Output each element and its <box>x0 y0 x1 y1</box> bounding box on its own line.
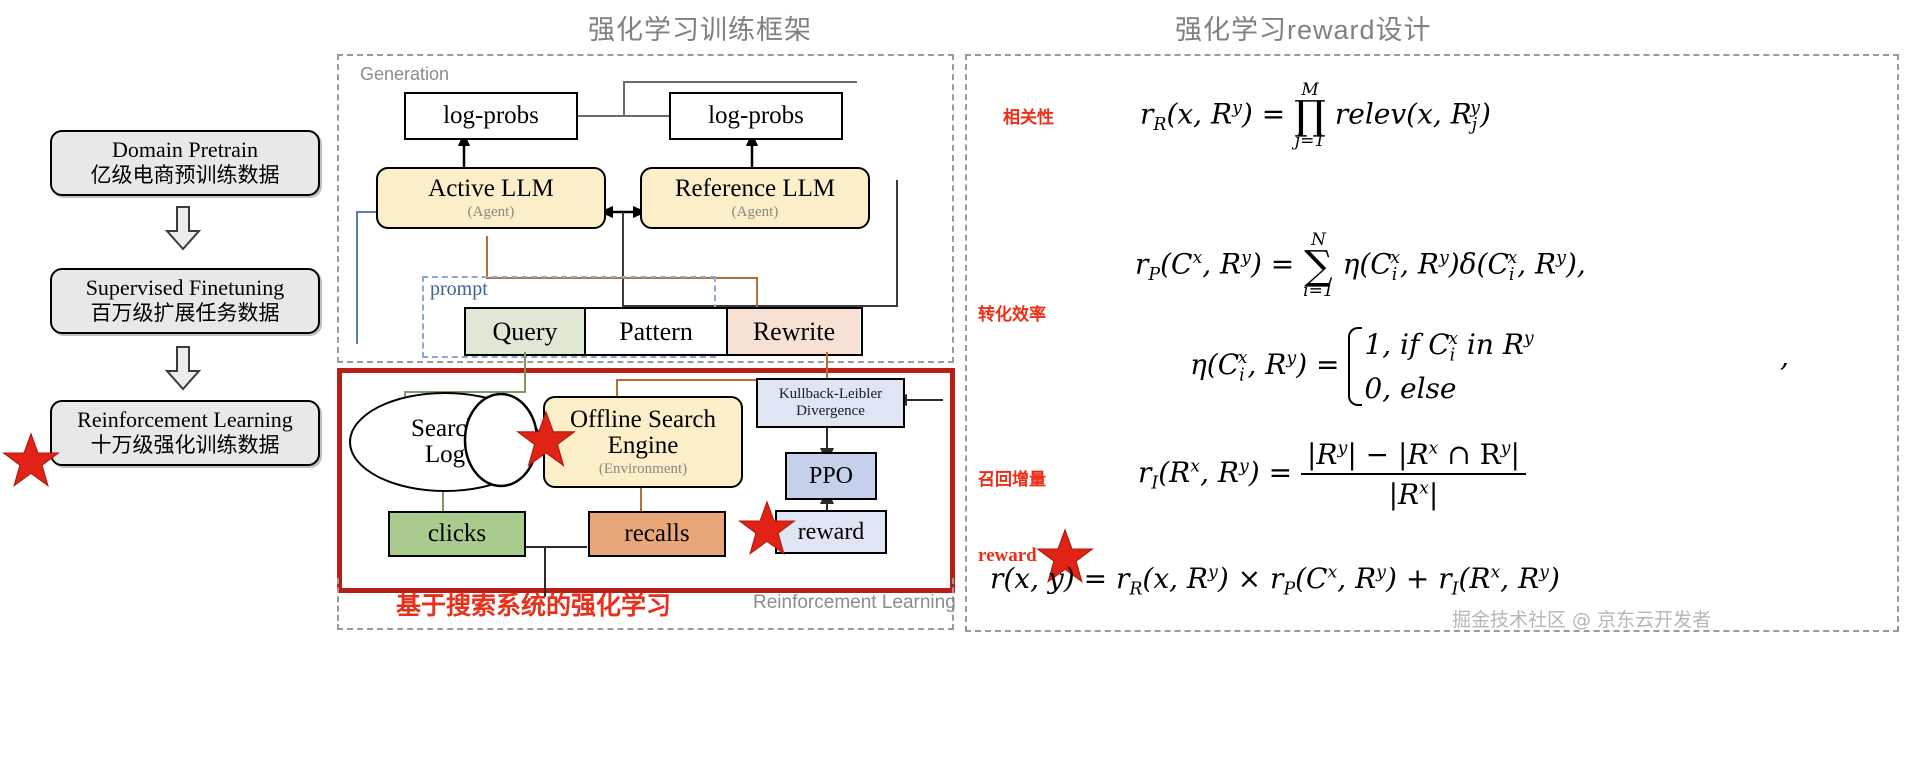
pipeline-step-domain-pretrain[interactable]: Domain Pretrain 亿级电商预训练数据 <box>50 130 320 196</box>
formula-eta-cases: η(Cix, Ry) = 1, if Cix in Ry 0, else <box>1190 325 1534 408</box>
prompt-cells: Query Pattern Rewrite <box>464 307 863 356</box>
prompt-label: prompt <box>430 278 488 301</box>
pipeline-step-subtitle: 百万级扩展任务数据 <box>91 301 280 326</box>
formula-relevance: rR(x, Ry) = M∏j=1 relev(x, Rjy) <box>1140 82 1491 150</box>
pipeline-step-title: Domain Pretrain <box>112 138 258 163</box>
offline-engine-line1: Offline Search <box>570 407 716 434</box>
prompt-cell-pattern[interactable]: Pattern <box>586 309 728 354</box>
red-star-icon-engine <box>516 410 576 468</box>
pipeline-step-supervised-finetuning[interactable]: Supervised Finetuning 百万级扩展任务数据 <box>50 268 320 334</box>
reference-llm-label: Reference LLM <box>675 176 835 203</box>
prompt-cell-query[interactable]: Query <box>466 309 586 354</box>
kl-line2: Divergence <box>796 403 865 419</box>
watermark: 掘金技术社区 @ 京东云开发者 <box>1452 605 1711 632</box>
formula-total-reward: r(x, y) = rR(x, Ry) × rP(Cx, Ry) + rI(Rx… <box>990 562 1560 600</box>
active-llm-sublabel: (Agent) <box>468 204 515 221</box>
pipeline-step-reinforcement-learning[interactable]: Reinforcement Learning 十万级强化训练数据 <box>50 400 320 466</box>
active-llm-box[interactable]: Active LLM (Agent) <box>376 167 606 229</box>
red-star-icon-reward <box>738 500 796 556</box>
reference-llm-sublabel: (Agent) <box>732 204 779 221</box>
down-arrow-icon-1 <box>165 205 201 251</box>
logprobs-label: log-probs <box>708 103 804 130</box>
right-panel-title: 强化学习reward设计 <box>1175 8 1432 47</box>
formula-eta-trailing-comma: , <box>1780 340 1789 373</box>
logprobs-box-left[interactable]: log-probs <box>404 92 578 140</box>
tag-relevance: 相关性 <box>1003 103 1054 128</box>
kl-divergence-box[interactable]: Kullback-Leibler Divergence <box>756 378 905 428</box>
kl-line1: Kullback-Leibler <box>779 386 882 402</box>
formula-conversion: rP(Cx, Ry) = N∑i=1 η(Cix, Ry)δ(Cix, Ry), <box>1135 232 1586 300</box>
logprobs-label: log-probs <box>443 103 539 130</box>
reference-llm-box[interactable]: Reference LLM (Agent) <box>640 167 870 229</box>
reward-label: reward <box>798 519 865 546</box>
offline-engine-line2: Engine <box>608 433 679 460</box>
center-panel-title: 强化学习训练框架 <box>588 8 812 47</box>
pipeline-step-title: Supervised Finetuning <box>86 276 285 301</box>
red-star-icon-pipeline <box>2 432 60 488</box>
clicks-label: clicks <box>428 520 486 548</box>
search-log-line2: Log <box>425 442 465 469</box>
active-llm-label: Active LLM <box>428 176 554 203</box>
tag-recall: 召回增量 <box>978 465 1046 490</box>
logprobs-box-right[interactable]: log-probs <box>669 92 843 140</box>
recalls-box[interactable]: recalls <box>588 511 726 557</box>
clicks-box[interactable]: clicks <box>388 511 526 557</box>
offline-engine-sublabel: (Environment) <box>599 461 687 478</box>
tag-conversion: 转化效率 <box>978 300 1046 325</box>
recalls-label: recalls <box>624 520 689 548</box>
rl-caption-cn: 基于搜索系统的强化学习 <box>396 586 671 622</box>
pipeline-step-subtitle: 十万级强化训练数据 <box>91 433 280 458</box>
ppo-label: PPO <box>809 463 853 490</box>
pipeline-step-subtitle: 亿级电商预训练数据 <box>91 163 280 188</box>
down-arrow-icon-2 <box>165 345 201 391</box>
rl-caption-en: Reinforcement Learning <box>753 592 956 614</box>
pipeline-step-title: Reinforcement Learning <box>77 408 293 433</box>
ppo-box[interactable]: PPO <box>785 452 877 500</box>
formula-recall-increment: rI(Rx, Ry) = |Ry| − |Rx ∩ Ry| |Rx| <box>1138 438 1526 511</box>
prompt-cell-rewrite[interactable]: Rewrite <box>728 309 860 354</box>
